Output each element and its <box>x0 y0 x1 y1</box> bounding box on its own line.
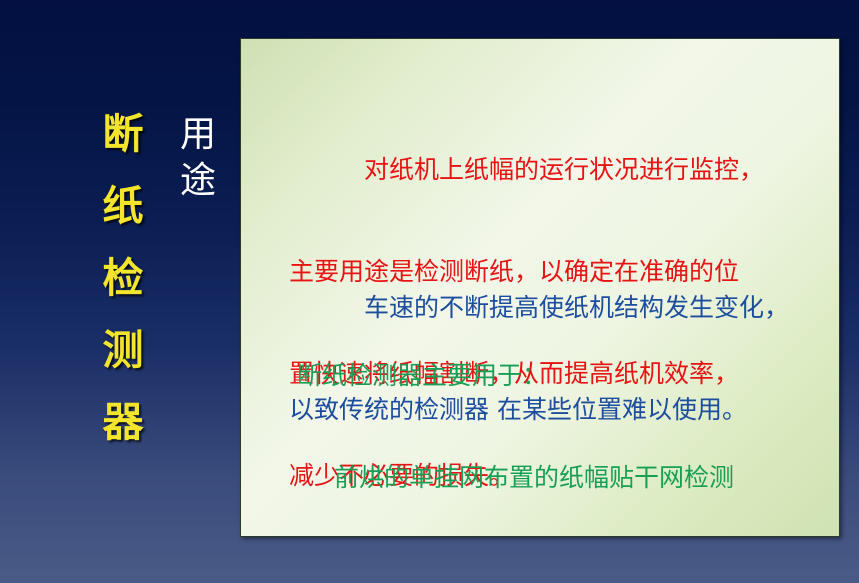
subject-char-2: 途 <box>180 158 216 204</box>
vertical-slide-title: 断 纸 检 测 器 <box>96 98 150 458</box>
title-char-3: 检 <box>103 242 144 314</box>
green-paragraph: 断纸检测器主要用于： 前烘的单挂网布置的纸幅贴干网检测 压榨部纸幅检测 烘干部双… <box>289 291 831 537</box>
content-panel: 对纸机上纸幅的运行状况进行监控， 主要用途是检测断纸，以确定在准确的位 置快速将… <box>240 38 840 537</box>
title-char-2: 纸 <box>103 170 144 242</box>
green-list-item-1: 前烘的单挂网布置的纸幅贴干网检测 <box>289 461 831 495</box>
title-char-5: 器 <box>103 386 144 458</box>
title-char-1: 断 <box>103 98 144 170</box>
vertical-subject-label: 用 途 <box>175 112 221 204</box>
presentation-slide: 断 纸 检 测 器 用 途 对纸机上纸幅的运行状况进行监控， 主要用途是检测断纸… <box>0 0 859 583</box>
title-char-4: 测 <box>103 314 144 386</box>
red-line-1: 对纸机上纸幅的运行状况进行监控， <box>289 153 831 187</box>
green-heading: 断纸检测器主要用于： <box>289 359 831 393</box>
subject-char-1: 用 <box>180 112 216 158</box>
